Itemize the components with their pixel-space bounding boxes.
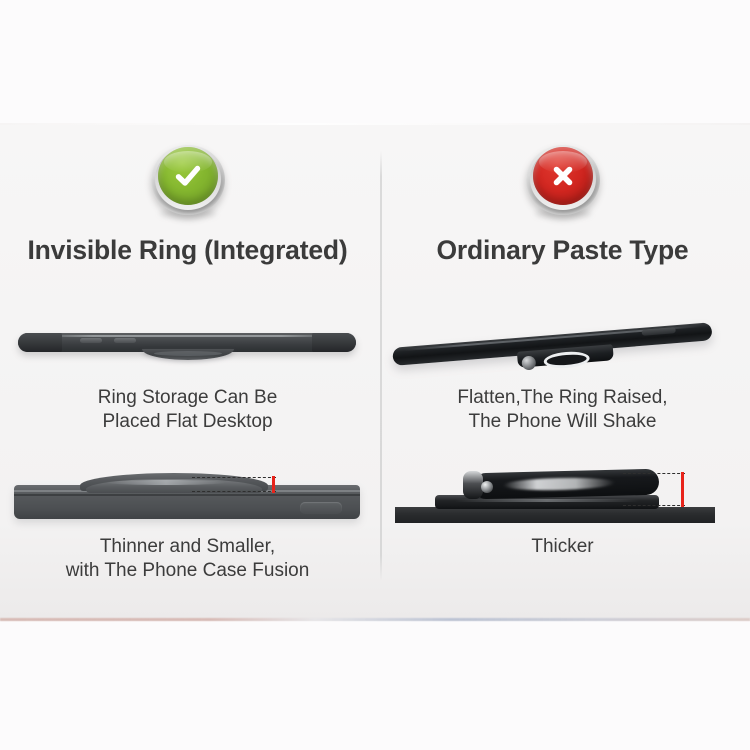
thickness-measure-bar (272, 476, 275, 493)
right-top-caption-line1: Flatten,The Ring Raised, (375, 386, 750, 410)
left-badge-wrap (0, 143, 375, 217)
ring-hinge-pivot (481, 481, 493, 493)
measure-dashed-bottom (192, 491, 276, 492)
comparison-panels: Invisible Ring (Integrated) Ring Storage… (0, 123, 750, 621)
volume-down-button (114, 338, 136, 343)
left-bottom-caption: Thinner and Smaller, with The Phone Case… (0, 535, 375, 583)
badge-face (158, 147, 218, 205)
thickness-measure-bar (681, 472, 684, 507)
right-bottom-photo (375, 453, 750, 539)
check-circle-icon (151, 143, 225, 217)
left-bottom-caption-line2: with The Phone Case Fusion (0, 559, 375, 583)
panel-title-left: Invisible Ring (Integrated) (0, 235, 375, 266)
badge-face (533, 147, 593, 205)
measure-dashed-top (192, 477, 276, 478)
right-top-caption: Flatten,The Ring Raised, The Phone Will … (375, 386, 750, 434)
right-bottom-caption-line1: Thicker (375, 535, 750, 559)
right-top-caption-line2: The Phone Will Shake (375, 410, 750, 434)
volume-up-button (80, 338, 102, 343)
phone-left-cap (18, 333, 62, 352)
cross-circle-icon (526, 143, 600, 217)
right-bottom-caption: Thicker (375, 535, 750, 559)
comparison-card: Invisible Ring (Integrated) Ring Storage… (0, 123, 750, 621)
right-top-photo (375, 305, 750, 391)
panel-ordinary-paste: Ordinary Paste Type Flatten,The Ring Rai… (375, 123, 750, 621)
ring-pivot (521, 355, 536, 370)
desk-surface (395, 507, 715, 523)
case-notch (300, 502, 342, 514)
left-bottom-photo (0, 453, 375, 539)
phone-case-thickness-view (14, 459, 360, 525)
phone-right-cap (312, 333, 356, 352)
measure-dashed-top (623, 473, 685, 474)
left-top-caption-line1: Ring Storage Can Be (0, 386, 375, 410)
left-top-caption-line2: Placed Flat Desktop (0, 410, 375, 434)
ring-lid-gloss (106, 480, 226, 485)
right-badge-wrap (375, 143, 750, 217)
measure-dashed-bottom (623, 505, 685, 506)
panel-divider (380, 151, 382, 581)
ring-hinge (463, 471, 483, 499)
integrated-ring-bump (142, 349, 234, 360)
left-top-caption: Ring Storage Can Be Placed Flat Desktop (0, 386, 375, 434)
panel-invisible-ring: Invisible Ring (Integrated) Ring Storage… (0, 123, 375, 621)
check-glyph (171, 159, 205, 193)
left-bottom-caption-line1: Thinner and Smaller, (0, 535, 375, 559)
phone-tilted-with-ring-holder (391, 308, 715, 395)
infographic-canvas: Invisible Ring (Integrated) Ring Storage… (0, 0, 750, 750)
left-top-photo (0, 305, 375, 391)
panel-title-right: Ordinary Paste Type (375, 235, 750, 266)
cross-glyph (548, 161, 578, 191)
phone-thick-ring-holder-view (395, 457, 715, 527)
phone-flat-side-view (18, 333, 356, 359)
